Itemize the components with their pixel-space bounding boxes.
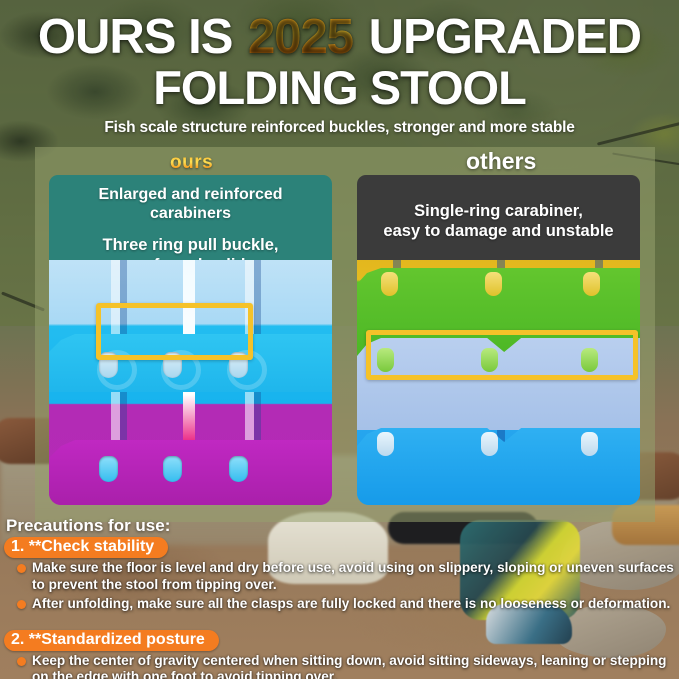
bullet-text: After unfolding, make sure all the clasp… <box>32 596 670 611</box>
promo-infographic: OURS IS 2025 UPGRADED FOLDING STOOL Fish… <box>0 0 679 679</box>
ours-carabiner-6 <box>229 456 248 482</box>
bullet-dot-icon <box>17 564 26 573</box>
ours-magenta-seat-band <box>49 440 332 505</box>
bullet-dot-icon <box>17 657 26 666</box>
headline-subtitle: Fish scale structure reinforced buckles,… <box>0 119 679 137</box>
precautions-bullets-1: Make sure the floor is level and dry bef… <box>0 560 679 613</box>
others-carabiner-1 <box>381 272 398 296</box>
ours-carabiner-5 <box>163 456 182 482</box>
others-carabiner-2 <box>485 272 502 296</box>
precautions-section-2: 2. **Standardized posture Keep the cente… <box>0 630 679 679</box>
others-caption: Single-ring carabiner, easy to damage an… <box>357 175 640 260</box>
others-carabiner-9 <box>581 432 598 456</box>
list-item: After unfolding, make sure all the clasp… <box>0 596 679 613</box>
list-item: Make sure the floor is level and dry bef… <box>0 560 679 593</box>
ours-highlight-box <box>96 303 253 360</box>
ours-caption-line-2a: Three ring pull buckle, <box>57 236 324 255</box>
precautions-section-1: 1. **Check stability Make sure the floor… <box>0 537 679 613</box>
others-highlight-box <box>366 330 638 380</box>
others-carabiner-3 <box>583 272 600 296</box>
precautions-section: Precautions for use: 1. **Check stabilit… <box>0 516 679 679</box>
ours-carabiner-4 <box>99 456 118 482</box>
ours-caption: Enlarged and reinforced carabiners Three… <box>49 175 332 260</box>
ours-caption-line-1: Enlarged and reinforced carabiners <box>57 185 324 223</box>
others-carabiner-8 <box>481 432 498 456</box>
ours-product-photo <box>49 260 332 505</box>
bullet-text: Make sure the floor is level and dry bef… <box>32 560 674 592</box>
precautions-heading-2: 2. **Standardized posture <box>4 630 219 651</box>
others-label: others <box>466 148 536 175</box>
precautions-spacer <box>0 616 679 630</box>
precautions-heading-1: 1. **Check stability <box>4 537 168 558</box>
ours-label: ours <box>170 152 213 174</box>
precautions-bullets-2: Keep the center of gravity centered when… <box>0 653 679 679</box>
others-carabiner-7 <box>377 432 394 456</box>
others-caption-line-2: easy to damage and unstable <box>365 221 632 241</box>
others-caption-line-1: Single-ring carabiner, <box>365 201 632 221</box>
bullet-text: Keep the center of gravity centered when… <box>32 653 667 679</box>
bullet-dot-icon <box>17 600 26 609</box>
others-product-photo <box>357 260 640 505</box>
list-item: Keep the center of gravity centered when… <box>0 653 679 679</box>
precautions-title: Precautions for use: <box>6 516 679 536</box>
